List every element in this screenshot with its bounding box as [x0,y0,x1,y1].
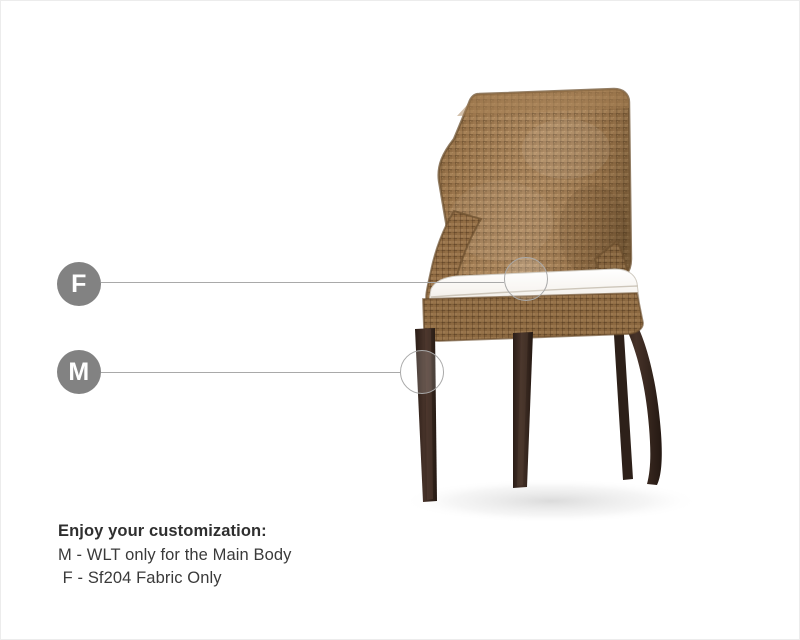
chair-illustration [361,61,761,521]
callout-target-f[interactable] [504,257,548,301]
legend-line-f: F - Sf204 Fabric Only [58,569,291,588]
chair-leg-back-left [613,319,633,480]
product-image [361,61,761,521]
customization-legend: Enjoy your customization: M - WLT only f… [58,522,291,592]
callout-badge-f[interactable]: F [57,262,101,306]
customization-preview-canvas: F M Enjoy your customization: M - WLT on… [0,0,800,640]
callout-target-m[interactable] [400,350,444,394]
floor-shadow [401,479,701,521]
callout-line-m [101,372,400,373]
legend-title: Enjoy your customization: [58,522,291,541]
callout-line-f [101,282,504,283]
legend-line-m: M - WLT only for the Main Body [58,546,291,565]
callout-badge-m[interactable]: M [57,350,101,394]
